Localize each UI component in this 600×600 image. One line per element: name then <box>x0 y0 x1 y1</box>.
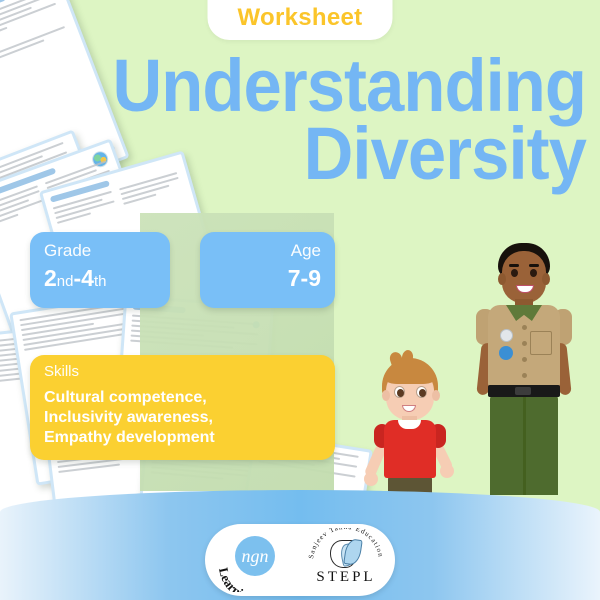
poster-canvas: Worksheet Understanding Diversity Grade … <box>0 0 600 600</box>
svg-text:Learning: Learning <box>216 566 256 592</box>
grade-separator: - <box>73 265 81 291</box>
stepl-logo: Sanjeev Tanna Education STEPL <box>303 528 389 592</box>
grade-num-1: 2 <box>44 265 57 291</box>
grade-suffix-1: nd <box>57 273 74 290</box>
worksheet-badge: Worksheet <box>208 0 393 40</box>
skill-line-1: Cultural competence, <box>44 388 321 408</box>
skill-line-2: Inclusivity awareness, <box>44 408 321 428</box>
grade-card-value: 2nd-4th <box>44 265 156 291</box>
grade-num-2: 4 <box>81 265 94 291</box>
page-title: Understanding Diversity <box>41 52 586 188</box>
age-card-value: 7-9 <box>214 265 321 291</box>
age-card: Age 7-9 <box>200 232 335 308</box>
title-line-2: Diversity <box>41 120 586 188</box>
age-card-label: Age <box>214 242 321 261</box>
grade-card-label: Grade <box>44 242 156 261</box>
footer-logo-pill: ngn Learning Sanjeev Tanna Education <box>205 524 395 596</box>
child-illustration <box>368 358 454 498</box>
skills-card-value: Cultural competence, Inclusivity awarene… <box>44 388 321 448</box>
scout-leader-illustration <box>468 243 580 495</box>
ngn-arc-text: Learning <box>211 528 297 592</box>
grade-suffix-2: th <box>94 273 107 290</box>
footer-band: ngn Learning Sanjeev Tanna Education <box>0 490 600 600</box>
svg-text:Sanjeev Tanna Education: Sanjeev Tanna Education <box>307 528 385 559</box>
skill-line-3: Empathy development <box>44 428 321 448</box>
worksheet-badge-label: Worksheet <box>238 4 363 31</box>
skills-card-label: Skills <box>44 364 321 381</box>
grade-card: Grade 2nd-4th <box>30 232 170 308</box>
ngn-learning-logo: ngn Learning <box>211 528 297 592</box>
stepl-wordmark: STEPL <box>303 569 389 586</box>
skills-card: Skills Cultural competence, Inclusivity … <box>30 355 335 460</box>
